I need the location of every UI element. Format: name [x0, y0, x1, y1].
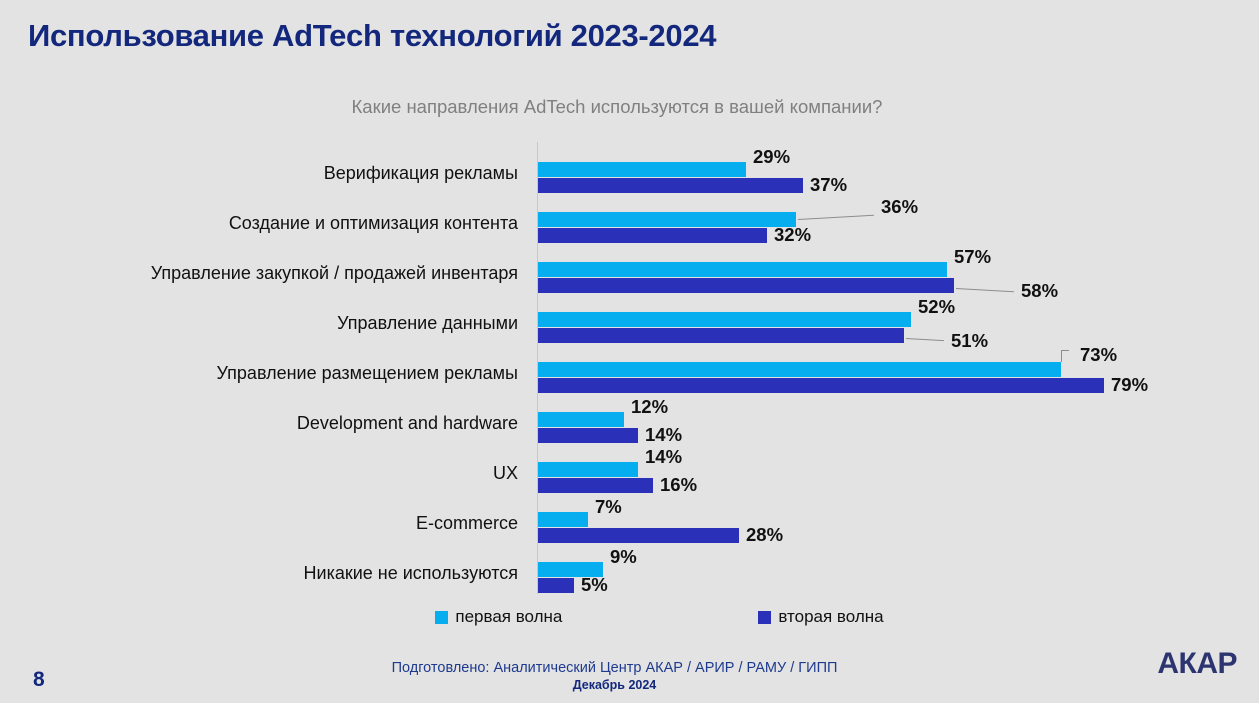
bar-wave1[interactable]	[538, 362, 1061, 377]
value-label: 57%	[954, 248, 991, 267]
bar-wave1[interactable]	[538, 512, 588, 527]
value-label: 16%	[660, 476, 697, 495]
category-label: Верификация рекламы	[0, 148, 518, 198]
legend-item-wave1[interactable]: первая волна	[435, 607, 562, 627]
legend-swatch-icon-wave1	[435, 611, 448, 624]
footer-date: Декабрь 2024	[0, 678, 1229, 692]
bar-wave2[interactable]	[538, 578, 574, 593]
value-label: 36%	[881, 198, 918, 217]
chart-row: Development and hardware12%14%	[0, 398, 1259, 448]
bar-wave1[interactable]	[538, 212, 796, 227]
value-label: 52%	[918, 298, 955, 317]
category-label: UX	[0, 448, 518, 498]
page-number: 8	[33, 668, 45, 692]
chart-row: Верификация рекламы29%37%	[0, 148, 1259, 198]
chart-legend: первая волна вторая волна	[0, 607, 1259, 627]
bar-wave1[interactable]	[538, 162, 746, 177]
leader-line	[1061, 350, 1069, 351]
category-label: Никакие не используются	[0, 548, 518, 598]
bar-group: 29%37%	[538, 148, 1238, 198]
leader-line	[906, 338, 944, 341]
bar-wave1[interactable]	[538, 462, 638, 477]
leader-line	[798, 215, 874, 220]
value-label: 14%	[645, 426, 682, 445]
bar-group: 57%58%	[538, 248, 1238, 298]
bar-wave2[interactable]	[538, 178, 803, 193]
bar-wave1[interactable]	[538, 262, 947, 277]
leader-line	[956, 288, 1014, 292]
bar-chart: Верификация рекламы29%37%Создание и опти…	[0, 140, 1259, 595]
category-label: Управление закупкой / продажей инвентаря	[0, 248, 518, 298]
value-label: 37%	[810, 176, 847, 195]
bar-wave2[interactable]	[538, 328, 904, 343]
akar-logo: АКАР	[1157, 647, 1237, 681]
leader-line	[1061, 350, 1062, 362]
value-label: 5%	[581, 576, 608, 595]
bar-wave2[interactable]	[538, 528, 739, 543]
chart-subtitle: Какие направления AdTech используются в …	[0, 96, 1259, 118]
bar-group: 7%28%	[538, 498, 1238, 548]
value-label: 7%	[595, 498, 622, 517]
value-label: 79%	[1111, 376, 1148, 395]
chart-row: Управление закупкой / продажей инвентаря…	[0, 248, 1259, 298]
bar-wave1[interactable]	[538, 312, 911, 327]
page-title: Использование AdTech технологий 2023-202…	[28, 18, 716, 54]
value-label: 14%	[645, 448, 682, 467]
legend-label-wave1: первая волна	[455, 607, 562, 627]
footer: Подготовлено: Аналитический Центр АКАР /…	[0, 660, 1259, 692]
chart-row: Создание и оптимизация контента36%32%	[0, 198, 1259, 248]
bar-group: 12%14%	[538, 398, 1238, 448]
bar-wave2[interactable]	[538, 228, 767, 243]
bar-group: 52%51%	[538, 298, 1238, 348]
value-label: 32%	[774, 226, 811, 245]
value-label: 9%	[610, 548, 637, 567]
legend-swatch-icon-wave2	[758, 611, 771, 624]
value-label: 28%	[746, 526, 783, 545]
category-label: Development and hardware	[0, 398, 518, 448]
chart-row: Управление данными52%51%	[0, 298, 1259, 348]
value-label: 12%	[631, 398, 668, 417]
bar-group: 36%32%	[538, 198, 1238, 248]
category-label: E-commerce	[0, 498, 518, 548]
footer-credit: Подготовлено: Аналитический Центр АКАР /…	[0, 660, 1229, 676]
slide-root: Использование AdTech технологий 2023-202…	[0, 0, 1259, 703]
category-label: Управление данными	[0, 298, 518, 348]
value-label: 73%	[1080, 346, 1117, 365]
chart-row: Управление размещением рекламы73%79%	[0, 348, 1259, 398]
bar-wave2[interactable]	[538, 428, 638, 443]
chart-row: UX14%16%	[0, 448, 1259, 498]
bar-group: 14%16%	[538, 448, 1238, 498]
bar-group: 9%5%	[538, 548, 1238, 598]
bar-wave2[interactable]	[538, 478, 653, 493]
bar-wave2[interactable]	[538, 278, 954, 293]
legend-label-wave2: вторая волна	[778, 607, 883, 627]
category-label: Создание и оптимизация контента	[0, 198, 518, 248]
bar-wave2[interactable]	[538, 378, 1104, 393]
value-label: 29%	[753, 148, 790, 167]
bar-wave1[interactable]	[538, 412, 624, 427]
chart-row: E-commerce7%28%	[0, 498, 1259, 548]
bar-group: 73%79%	[538, 348, 1238, 398]
chart-row: Никакие не используются9%5%	[0, 548, 1259, 598]
category-label: Управление размещением рекламы	[0, 348, 518, 398]
legend-item-wave2[interactable]: вторая волна	[758, 607, 883, 627]
